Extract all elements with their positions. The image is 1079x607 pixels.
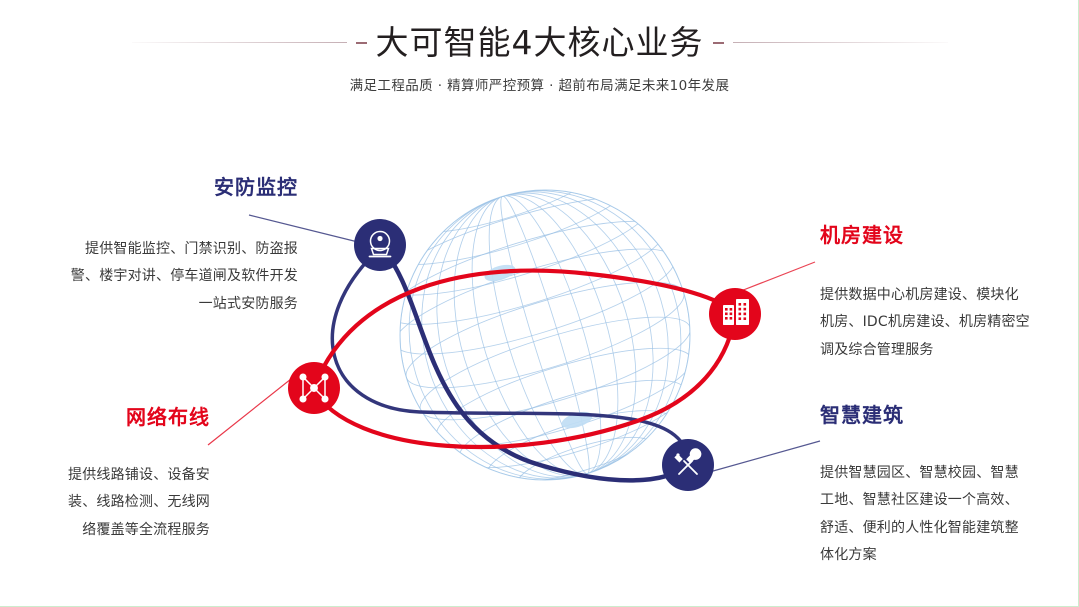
page-title: 大可智能4大核心业务 [376,26,704,59]
service-description-cabling: 提供线路铺设、设备安 装、线路检测、无线网 络覆盖等全流程服务 [10,462,210,544]
network-nodes-icon-bg [288,362,340,414]
service-description-datacenter: 提供数据中心机房建设、模块化 机房、IDC机房建设、机房精密空 调及综合管理服务 [820,282,1070,364]
description-line: 体化方案 [820,542,1072,569]
icon-node-datacenter [709,288,761,340]
navy-orbit-path [381,247,689,480]
title-row: 大可智能4大核心业务 [0,26,1079,59]
data-center-building-icon [723,299,749,325]
red-orbit-path-2 [313,314,735,447]
description-line: 提供智能监控、门禁识别、防盗报 [8,236,298,263]
tools-icon-bg [662,439,714,491]
globe-wireframe [357,133,730,524]
description-line: 警、楼宇对讲、停车道闸及软件开发 [8,263,298,290]
description-line: 调及综合管理服务 [820,337,1070,364]
description-line: 工地、智慧社区建设一个高效、 [820,487,1072,514]
service-block-cabling: 网络布线 提供线路铺设、设备安 装、线路检测、无线网 络覆盖等全流程服务 [10,406,210,544]
description-line: 舒适、便利的人性化智能建筑整 [820,515,1072,542]
description-line: 机房、IDC机房建设、机房精密空 [820,309,1070,336]
icon-node-cabling [288,362,340,414]
slide-canvas: 大可智能4大核心业务 满足工程品质 · 精算师严控预算 · 超前布局满足未来10… [0,0,1079,607]
data-center-building-icon-bg [709,288,761,340]
globe-outline [400,190,690,480]
description-line: 提供智慧园区、智慧校园、智慧 [820,460,1072,487]
red-orbit-path [314,271,735,388]
service-block-building: 智慧建筑 提供智慧园区、智慧校园、智慧 工地、智慧社区建设一个高效、 舒适、便利… [820,404,1072,569]
service-heading-building: 智慧建筑 [820,404,1072,426]
service-heading-datacenter: 机房建设 [820,224,1070,246]
dome-camera-icon [370,232,391,257]
title-rule-right [733,42,948,43]
slide-header: 大可智能4大核心业务 满足工程品质 · 精算师严控预算 · 超前布局满足未来10… [0,26,1079,94]
dome-camera-icon-bg [354,219,406,271]
page-subtitle: 满足工程品质 · 精算师严控预算 · 超前布局满足未来10年发展 [0,74,1079,94]
description-line: 提供线路铺设、设备安 [10,462,210,489]
icon-node-security [354,219,406,271]
navy-orbit-path-2 [332,247,688,465]
service-heading-security: 安防监控 [8,176,298,198]
service-heading-cabling: 网络布线 [10,406,210,428]
description-line: 装、线路检测、无线网 [10,489,210,516]
title-rule-left [132,42,347,43]
tools-wrench-screwdriver-icon [675,449,701,474]
network-nodes-icon [300,374,328,402]
description-line: 提供数据中心机房建设、模块化 [820,282,1070,309]
title-tick-right [713,42,724,44]
title-tick-left [356,42,367,44]
service-block-security: 安防监控 提供智能监控、门禁识别、防盗报 警、楼宇对讲、停车道闸及软件开发 一站… [8,176,298,318]
service-description-security: 提供智能监控、门禁识别、防盗报 警、楼宇对讲、停车道闸及软件开发 一站式安防服务 [8,236,298,318]
description-line: 络覆盖等全流程服务 [10,517,210,544]
service-description-building: 提供智慧园区、智慧校园、智慧 工地、智慧社区建设一个高效、 舒适、便利的人性化智… [820,460,1072,569]
icon-node-building [662,439,714,491]
description-line: 一站式安防服务 [8,291,298,318]
service-block-datacenter: 机房建设 提供数据中心机房建设、模块化 机房、IDC机房建设、机房精密空 调及综… [820,224,1070,364]
